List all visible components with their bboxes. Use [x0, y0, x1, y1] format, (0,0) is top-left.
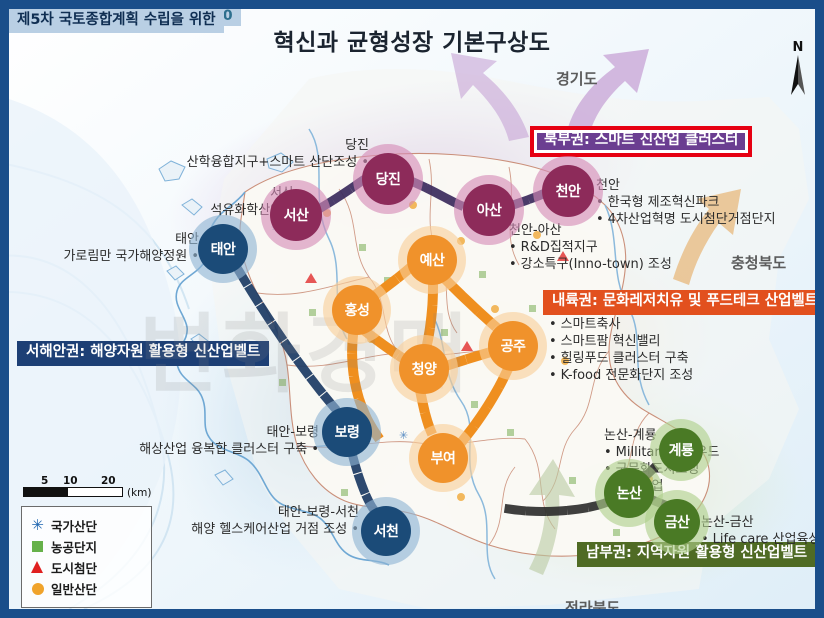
scale-unit: (km)	[127, 487, 152, 499]
city-label: 부여	[431, 448, 456, 468]
scale-tick-20: 20	[101, 475, 116, 487]
city-bubble-예산[interactable]: 예산	[407, 235, 457, 285]
city-bubble-서산[interactable]: 서산	[270, 189, 322, 241]
province-label-gyeonggi: 경기도	[556, 68, 597, 89]
city-bubble-논산[interactable]: 논산	[604, 468, 654, 518]
annotation-taean-boryeong-title: 태안-보령	[69, 424, 319, 441]
city-bubble-서천[interactable]: 서천	[361, 506, 411, 556]
square-icon	[31, 540, 44, 553]
city-label: 아산	[477, 200, 502, 220]
legend-item-urban-hightech: 도시첨단	[31, 558, 145, 577]
annotation-taean-item-0: 가로림만 국가해양정원 •	[39, 248, 199, 265]
legend-item-agro-industrial: 농공단지	[31, 537, 145, 556]
city-label: 계룡	[669, 440, 694, 460]
city-label: 공주	[501, 336, 526, 356]
annotation-cheonan-title: 천안	[596, 177, 776, 194]
city-label: 서산	[284, 205, 309, 225]
annotation-inland-item-2: 힐링푸드 클러스터 구축	[549, 350, 693, 367]
city-bubble-아산[interactable]: 아산	[463, 184, 515, 236]
city-bubble-당진[interactable]: 당진	[362, 153, 414, 205]
city-label: 청양	[412, 359, 437, 379]
annotation-cheonan: 천안 한국형 제조혁신파크 4차산업혁명 도시첨단거점단지	[596, 177, 776, 228]
city-label: 태안	[211, 239, 236, 259]
province-label-chungbuk: 충청북도	[731, 252, 786, 273]
svg-text:✳: ✳	[399, 429, 408, 442]
city-bubble-계룡[interactable]: 계룡	[659, 428, 703, 472]
city-bubble-태안[interactable]: 태안	[198, 224, 248, 274]
city-label: 보령	[335, 422, 360, 442]
city-bubble-청양[interactable]: 청양	[399, 344, 449, 394]
compass: N	[787, 42, 809, 101]
north-arrow-icon	[787, 53, 809, 97]
legend-label-3: 일반산단	[51, 579, 97, 598]
annotation-cheonan-asan-item-0: R&D집적지구	[509, 239, 672, 256]
circle-icon	[31, 582, 44, 595]
annotation-cheonan-asan-item-1: 강소특구(Inno-town) 조성	[509, 256, 672, 273]
annotation-nonsan-geumsan: 논산-금산 Life care 산업육성	[701, 514, 815, 548]
province-label-jeonbuk: 전라북도	[565, 597, 620, 609]
scale-bar-graphic	[23, 487, 123, 497]
scale-tick-10: 10	[63, 475, 78, 487]
city-bubble-금산[interactable]: 금산	[654, 499, 700, 545]
city-label: 논산	[617, 483, 642, 503]
annotation-taean-title: 태안	[39, 231, 199, 248]
map-canvas: ✳ ✳	[9, 9, 815, 609]
asterisk-icon: ✳	[31, 519, 44, 532]
city-bubble-천안[interactable]: 천안	[542, 165, 594, 217]
city-label: 금산	[665, 512, 690, 532]
annotation-taean-boryeong-item-0: 해상산업 융복합 클러스터 구축 •	[69, 441, 319, 458]
annotation-taean: 태안 가로림만 국가해양정원 •	[39, 231, 199, 265]
triangle-icon	[31, 561, 44, 574]
city-bubble-부여[interactable]: 부여	[418, 433, 468, 483]
annotation-inland-item-1: 스마트팜 혁신밸리	[549, 333, 693, 350]
scale-tick-5: 5	[41, 475, 48, 487]
city-bubble-보령[interactable]: 보령	[322, 407, 372, 457]
city-label: 홍성	[345, 300, 370, 320]
annotation-nonsan-geumsan-title: 논산-금산	[701, 514, 815, 531]
banner-inland-region: 내륙권: 문화레저치유 및 푸드테크 산업벨트	[543, 290, 815, 315]
compass-north-label: N	[787, 42, 809, 53]
legend: ✳ 국가산단 농공단지 도시첨단 일반산단	[21, 506, 152, 608]
legend-item-general-complex: 일반산단	[31, 579, 145, 598]
annotation-dangjin-title: 당진	[129, 137, 369, 154]
annotation-dangjin-item-0: 산학융합지구+스마트 산단조성 •	[129, 154, 369, 171]
city-label: 천안	[556, 181, 581, 201]
annotation-taean-boryeong: 태안-보령 해상산업 융복합 클러스터 구축 •	[69, 424, 319, 458]
city-label: 당진	[376, 169, 401, 189]
city-label: 예산	[420, 250, 445, 270]
annotation-inland-item-0: 스마트축사	[549, 316, 693, 333]
annotation-inland-items: 스마트축사 스마트팜 혁신밸리 힐링푸드 클러스터 구축 K-food 전문화단…	[549, 316, 693, 385]
annotation-dangjin: 당진 산학융합지구+스마트 산단조성 •	[129, 137, 369, 171]
legend-label-2: 도시첨단	[51, 558, 97, 577]
city-label: 서천	[374, 521, 399, 541]
scale-bar: 5 10 20 (km)	[23, 475, 135, 497]
page-title: 혁신과 균형성장 기본구상도	[9, 23, 815, 57]
annotation-cheonan-item-0: 한국형 제조혁신파크	[596, 194, 776, 211]
annotation-cheonan-asan-title: 천안-아산	[509, 222, 672, 239]
city-bubble-홍성[interactable]: 홍성	[332, 285, 382, 335]
legend-item-national-complex: ✳ 국가산단	[31, 516, 145, 535]
banner-north-region: 북부권: 스마트 신산업 클러스터	[530, 126, 752, 157]
city-bubble-공주[interactable]: 공주	[488, 321, 538, 371]
legend-label-1: 농공단지	[51, 537, 97, 556]
map-page: ✳ ✳	[0, 0, 824, 618]
legend-label-0: 국가산단	[51, 516, 97, 535]
annotation-cheonan-asan: 천안-아산 R&D집적지구 강소특구(Inno-town) 조성	[509, 222, 672, 273]
annotation-inland-item-3: K-food 전문화단지 조성	[549, 367, 693, 384]
annotation-nonsan-geumsan-item-0: Life care 산업육성	[701, 531, 815, 548]
